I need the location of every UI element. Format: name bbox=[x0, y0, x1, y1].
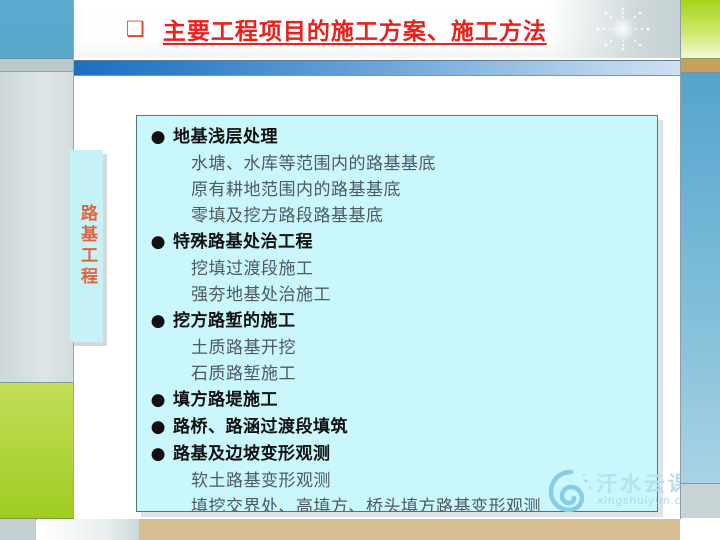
content-box: ●地基浅层处理水塘、水库等范围内的路基基底原有耕地范围内的路基基底零填及挖方路段… bbox=[136, 115, 658, 512]
bullet-item: ●路桥、路涵过渡段填筑 bbox=[143, 414, 653, 441]
footer-tan-block bbox=[139, 519, 680, 540]
bullet-item-label: 路基及边坡变形观测 bbox=[173, 441, 331, 467]
bullet-item-label: 路桥、路涵过渡段填筑 bbox=[173, 414, 348, 440]
bullet-sub-item: 土质路基开挖 bbox=[143, 335, 653, 361]
bullet-sub-item: 石质路堑施工 bbox=[143, 361, 653, 387]
slide-header: ❑ 主要工程项目的施工方案、施工方法 bbox=[74, 0, 680, 58]
bullet-dot-icon: ● bbox=[143, 387, 173, 413]
bullet-sub-item: 水塘、水库等范围内的路基基底 bbox=[143, 151, 653, 177]
bullet-dot-icon: ● bbox=[143, 124, 173, 150]
left-green-block bbox=[0, 383, 74, 519]
page-title: 主要工程项目的施工方案、施工方法 bbox=[163, 12, 547, 46]
right-skyblue-block bbox=[680, 73, 720, 484]
slide-canvas: ❑ 主要工程项目的施工方案、施工方法 路基工程 ●地基浅层处理水塘、水库等范围内… bbox=[0, 0, 720, 540]
bullet-sub-item: 原有耕地范围内的路基基底 bbox=[143, 177, 653, 203]
left-pale-block bbox=[0, 72, 74, 383]
bullet-item: ●填方路堤施工 bbox=[143, 387, 653, 414]
side-label-box: 路基工程 bbox=[70, 150, 103, 342]
right-green-block bbox=[680, 0, 720, 59]
bullet-dot-icon: ● bbox=[143, 414, 173, 440]
header-blue-divider bbox=[74, 60, 680, 76]
bullet-list: ●地基浅层处理水塘、水库等范围内的路基基底原有耕地范围内的路基基底零填及挖方路段… bbox=[137, 116, 657, 512]
bullet-item-label: 特殊路基处治工程 bbox=[173, 229, 313, 255]
bullet-item: ●特殊路基处治工程 bbox=[143, 229, 653, 256]
left-gray-block bbox=[0, 59, 74, 72]
bullet-dot-icon: ● bbox=[143, 229, 173, 255]
bullet-sub-item: 填挖交界处、高填方、桥头填方路基变形观测 bbox=[143, 494, 653, 512]
bullet-item-label: 填方路堤施工 bbox=[173, 387, 278, 413]
right-edge-divider bbox=[680, 0, 681, 540]
title-row: ❑ 主要工程项目的施工方案、施工方法 bbox=[74, 0, 680, 58]
right-tan-block bbox=[680, 59, 720, 73]
bullet-sub-item: 强夯地基处治施工 bbox=[143, 282, 653, 308]
bullet-sub-item: 挖填过渡段施工 bbox=[143, 256, 653, 282]
left-decor-column bbox=[0, 0, 74, 540]
bullet-item: ●挖方路堑的施工 bbox=[143, 308, 653, 335]
footer-gray-block bbox=[0, 519, 36, 540]
bullet-item: ●地基浅层处理 bbox=[143, 124, 653, 151]
side-label-text: 路基工程 bbox=[78, 204, 95, 288]
bullet-sub-item: 零填及挖方路段路基基底 bbox=[143, 203, 653, 229]
left-blue-block bbox=[0, 0, 74, 59]
right-palegray-block bbox=[680, 484, 720, 518]
bullet-item-label: 挖方路堑的施工 bbox=[173, 308, 296, 334]
footer-right-block bbox=[680, 519, 720, 540]
bullet-dot-icon: ● bbox=[143, 308, 173, 334]
slide-footer bbox=[0, 519, 720, 540]
bullet-item-label: 地基浅层处理 bbox=[173, 124, 278, 150]
title-bullet-icon: ❑ bbox=[126, 19, 145, 40]
bullet-sub-item: 软土路基变形观测 bbox=[143, 468, 653, 494]
bullet-dot-icon: ● bbox=[143, 441, 173, 467]
right-decor-column bbox=[680, 0, 720, 540]
bullet-item: ●路基及边坡变形观测 bbox=[143, 441, 653, 468]
footer-fade-block bbox=[37, 519, 139, 540]
